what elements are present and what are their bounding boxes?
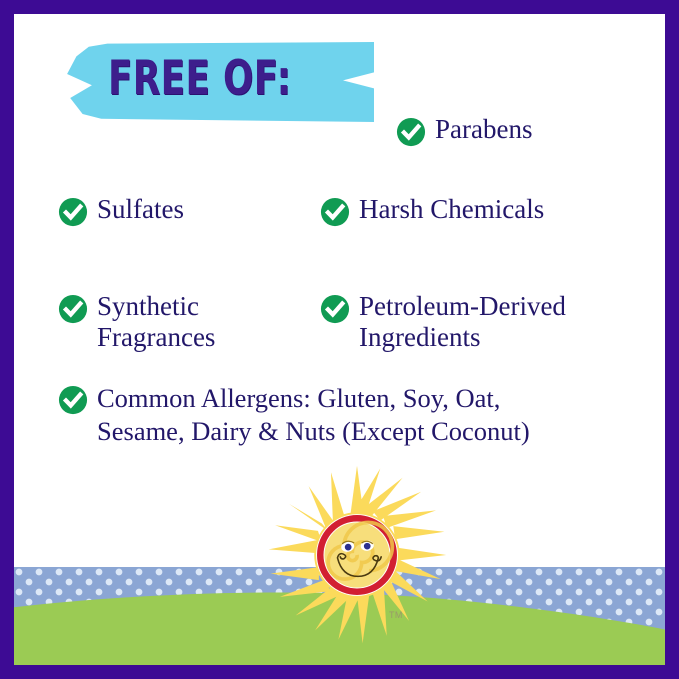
green-check-circle-icon	[58, 385, 88, 415]
sun-eye-right-pupil	[364, 543, 371, 550]
banner-title: FREE OF:	[108, 52, 291, 106]
free-of-banner: FREE OF:	[64, 42, 374, 122]
trademark-mark: TM	[389, 610, 403, 620]
list-item-label: Petroleum-Derived Ingredients	[359, 291, 566, 353]
list-item-label: Sulfates	[97, 194, 184, 225]
list-item: Parabens	[396, 114, 532, 147]
list-item: Synthetic Fragrances	[58, 291, 215, 353]
list-item-label: Harsh Chemicals	[359, 194, 544, 225]
green-check-circle-icon	[58, 294, 88, 324]
list-item: Common Allergens: Gluten, Soy, Oat, Sesa…	[58, 382, 530, 448]
green-check-circle-icon	[320, 197, 350, 227]
sun-eye-left-pupil	[345, 544, 352, 551]
list-item: Petroleum-Derived Ingredients	[320, 291, 566, 353]
green-check-circle-icon	[58, 197, 88, 227]
list-item: Harsh Chemicals	[320, 194, 544, 227]
green-check-circle-icon	[320, 294, 350, 324]
list-item: Sulfates	[58, 194, 184, 227]
list-item-label: Parabens	[435, 114, 532, 145]
product-info-card: FREE OF: Parabens Sulfates Harsh Chemica…	[0, 0, 679, 679]
list-item-label: Common Allergens: Gluten, Soy, Oat, Sesa…	[97, 382, 530, 448]
list-item-label: Synthetic Fragrances	[97, 291, 215, 353]
smiling-sun-logo	[264, 462, 450, 648]
green-check-circle-icon	[396, 117, 426, 147]
